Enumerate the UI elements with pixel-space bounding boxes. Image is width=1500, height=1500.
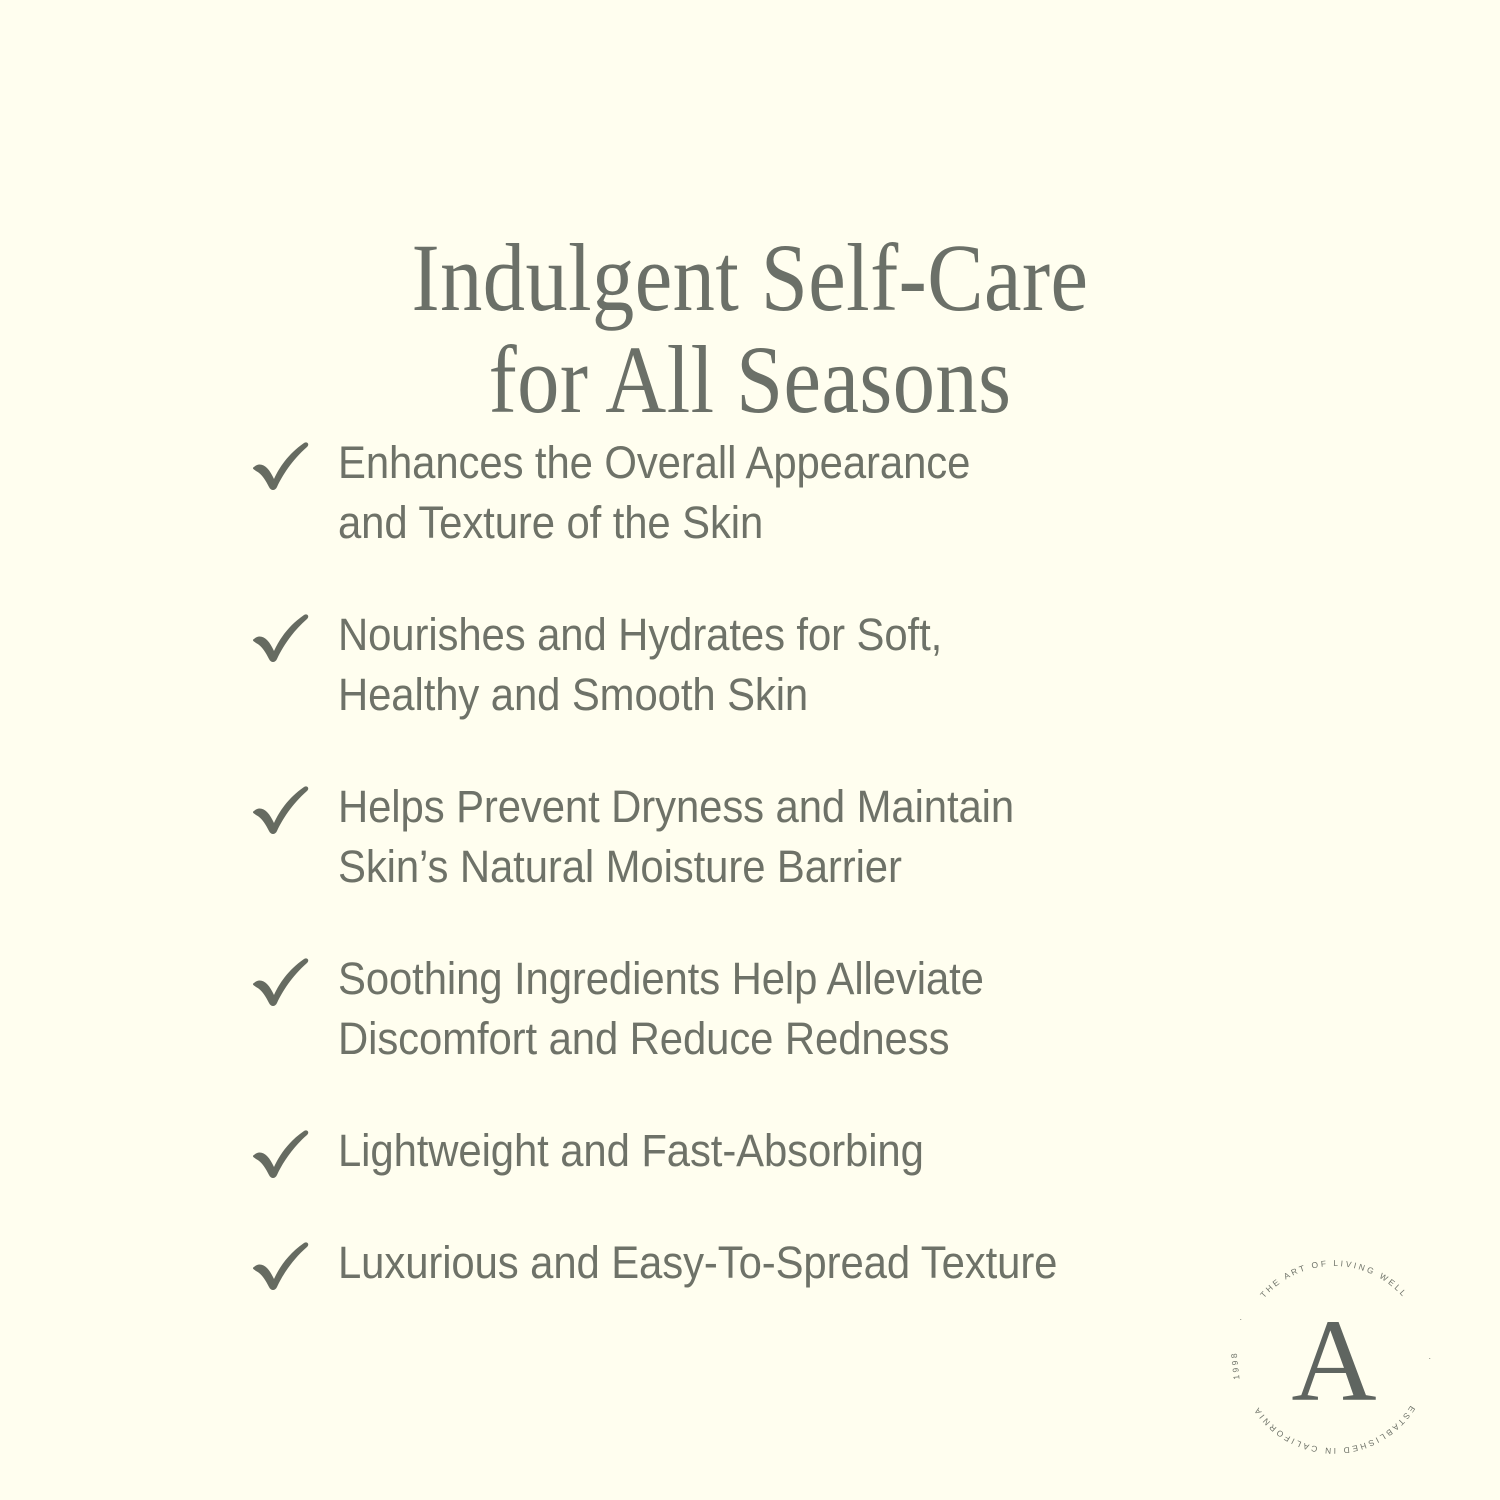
checkmark-icon [250,609,314,665]
checkmark-icon [250,953,314,1009]
checkmark-icon [250,437,314,493]
checkmark-icon [250,1237,314,1293]
list-item-label: Nourishes and Hydrates for Soft, Healthy… [338,605,1149,725]
page-title-line-2: for All Seasons [90,329,1410,431]
promo-benefits-card: Indulgent Self-Care for All Seasons Enha… [0,0,1500,1500]
list-item-label: Enhances the Overall Appearance and Text… [338,433,1149,553]
badge-separator-right: · [1428,1353,1433,1363]
list-item: Nourishes and Hydrates for Soft, Healthy… [250,605,1210,725]
list-item-label: Luxurious and Easy-To-Spread Texture [338,1233,1149,1293]
list-item: Enhances the Overall Appearance and Text… [250,433,1210,553]
badge-monogram-letter: A [1291,1295,1376,1426]
list-item: Lightweight and Fast-Absorbing [250,1121,1210,1181]
page-title: Indulgent Self-Care for All Seasons [90,227,1410,431]
badge-top-arc-text: THE ART OF LIVING WELL [1258,1258,1410,1300]
list-item: Helps Prevent Dryness and Maintain Skin’… [250,777,1210,897]
page-title-line-1: Indulgent Self-Care [90,227,1410,329]
badge-top-arc-textpath: THE ART OF LIVING WELL [1258,1258,1410,1300]
checkmark-icon [250,1125,314,1181]
list-item: Soothing Ingredients Help Alleviate Disc… [250,949,1210,1069]
badge-monogram: A [1291,1295,1376,1426]
list-item-label: Helps Prevent Dryness and Maintain Skin’… [338,777,1149,897]
list-item-label: Soothing Ingredients Help Alleviate Disc… [338,949,1149,1069]
list-item-label: Lightweight and Fast-Absorbing [338,1121,1149,1181]
benefits-list: Enhances the Overall Appearance and Text… [250,433,1210,1293]
badge-separator-left: · [1239,1314,1244,1324]
list-item: Luxurious and Easy-To-Spread Texture [250,1233,1210,1293]
brand-badge-logo: THE ART OF LIVING WELL ESTABLISHED IN CA… [1228,1252,1440,1464]
badge-year: 1998 [1229,1351,1242,1381]
checkmark-icon [250,781,314,837]
